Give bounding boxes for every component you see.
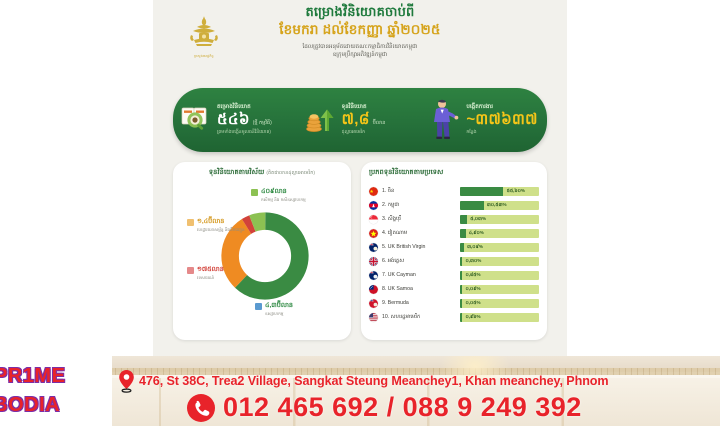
phone-row[interactable]: 012 465 692 / 088 9 249 392 bbox=[186, 392, 582, 423]
country-bar-value: ០,៨៥% bbox=[466, 272, 481, 279]
flag-united-kingdom-icon bbox=[369, 257, 378, 266]
donut-label-infrastructure: ១,៤ប៊ីលាន ហេដ្ឋារចនាសម្ព័ន្ធ និងដឹកជញ្ជូ… bbox=[187, 218, 245, 232]
coins-arrow-up-icon bbox=[302, 100, 338, 140]
businessman-icon bbox=[426, 100, 462, 140]
country-bar-track: ០,៣០% bbox=[460, 257, 539, 266]
sector-investment-card: ទុនវិនិយោគតាមវិស័យ (គិតជាលានដុល្លារអាមេរ… bbox=[173, 162, 351, 340]
country-bar-track: ៣០,៥៣% bbox=[460, 201, 539, 210]
country-row: 3. សិង្ហបុរី៥,០៣% bbox=[369, 212, 539, 226]
country-bar-track: ០,០៩% bbox=[460, 285, 539, 294]
country-bar-value: ០,៣០% bbox=[466, 258, 482, 265]
flag-vietnam-icon bbox=[369, 229, 378, 238]
donut-label-tourism: ១៧៥លាន ទេសចរណ៍ bbox=[187, 266, 224, 280]
source-country-card: ប្រភពទុនវិនិយោគតាមប្រទេស 1. ចិន៥៥,៦០%2. … bbox=[361, 162, 547, 340]
donut-label-agriculture: ៤០៩លាន កសិកម្ម និង កសិឧស្សាហកម្ម bbox=[251, 188, 306, 202]
telephone-icon bbox=[186, 393, 216, 423]
country-name: 5. UK British Virgin bbox=[382, 244, 460, 250]
country-bar-value: ០,០៥% bbox=[466, 300, 481, 307]
country-row: 1. ចិន៥៥,៦០% bbox=[369, 184, 539, 198]
stat-capital-unit: ប៊ីលាន bbox=[373, 121, 386, 126]
country-card-title: ប្រភពទុនវិនិយោគតាមប្រទេស bbox=[361, 162, 547, 178]
header-title-line2: ខែមករា ដល់ខែកញ្ញា ឆ្នាំ២០២៥ bbox=[153, 21, 567, 39]
country-bar-list: 1. ចិន៥៥,៦០%2. កម្ពុជា៣០,៥៣%3. សិង្ហបុរី… bbox=[369, 184, 539, 324]
sector-card-title: ទុនវិនិយោគតាមវិស័យ (គិតជាលានដុល្លារអាមេរ… bbox=[173, 162, 351, 178]
country-name: 4. វៀតណាម bbox=[382, 229, 460, 237]
country-bar-fill bbox=[460, 271, 462, 280]
infrastructure-value: ១,៤ប៊ីលាន bbox=[197, 218, 245, 226]
donut-label-industry: ៤,៣ប៊ីលាន ឧស្សាហកម្ម bbox=[255, 302, 293, 316]
stat-jobs-value: ~៣៧៦៣៧ bbox=[466, 112, 537, 128]
header-subtitle-line1: ដែលត្រូវបានអនុម័តដោយគណៈកម្មាធិការវិនិយោគ… bbox=[153, 43, 567, 51]
country-bar-value: ៣០,៥៣% bbox=[487, 202, 507, 209]
infrastructure-sub: ហេដ្ឋារចនាសម្ព័ន្ធ និងដឹកជញ្ជូន bbox=[197, 227, 245, 232]
stat-jobs: បង្កើតការងារ ~៣៧៦៣៧ កន្លែង bbox=[422, 100, 547, 140]
company-logo: PR1ME MBODIA bbox=[0, 356, 112, 426]
flag-british-virgin-islands-icon bbox=[369, 243, 378, 252]
contact-banner: PR1ME MBODIA 476, St 38C, Trea2 Village,… bbox=[0, 356, 720, 426]
country-bar-value: ៥៥,៦០% bbox=[507, 188, 525, 195]
tourism-swatch-icon bbox=[187, 267, 194, 274]
flag-samoa-icon bbox=[369, 285, 378, 294]
stat-projects-unit: (ថ្មី កម្មវិធី) bbox=[253, 121, 272, 126]
country-name: 8. UK Samoa bbox=[382, 286, 460, 292]
documents-magnifier-icon bbox=[177, 100, 213, 140]
industry-value: ៤,៣ប៊ីលាន bbox=[265, 302, 293, 310]
country-row: 10. សហរដ្ឋអាមេរិក០,៩៦% bbox=[369, 310, 539, 324]
tourism-sub: ទេសចរណ៍ bbox=[197, 275, 224, 280]
country-bar-track: ៥,០៣% bbox=[460, 215, 539, 224]
country-bar-value: ០,៩៦% bbox=[466, 314, 481, 321]
logo-line1: PR1ME bbox=[0, 365, 112, 388]
country-name: 7. UK Cayman bbox=[382, 272, 460, 278]
tourism-value: ១៧៥លាន bbox=[197, 266, 224, 274]
header-title-line1: តម្រោងវិនិយោគចាប់ពី bbox=[153, 4, 567, 20]
country-bar-fill bbox=[460, 299, 462, 308]
country-row: 4. វៀតណាម៤,៩០% bbox=[369, 226, 539, 240]
country-bar-fill bbox=[460, 257, 462, 266]
country-bar-value: ៤,៩០% bbox=[469, 230, 484, 237]
country-bar-fill bbox=[460, 215, 467, 224]
map-pin-icon bbox=[118, 369, 135, 393]
logo-line2: MBODIA bbox=[0, 394, 112, 417]
flag-cambodia-icon bbox=[369, 201, 378, 210]
country-bar-fill bbox=[460, 229, 466, 238]
flag-china-icon bbox=[369, 187, 378, 196]
header-subtitle-line2: ឧក្រុមប្រឹក្សាអភិវឌ្ឍន៍កម្ពុជា bbox=[153, 51, 567, 59]
country-bar-value: ៣,០៩% bbox=[467, 244, 483, 251]
country-bar-track: ៣,០៩% bbox=[460, 243, 539, 252]
country-name: 9. Bermuda bbox=[382, 300, 460, 306]
country-name: 10. សហរដ្ឋអាមេរិក bbox=[382, 313, 460, 321]
flag-cayman-islands-icon bbox=[369, 271, 378, 280]
country-row: 9. Bermuda០,០៥% bbox=[369, 296, 539, 310]
stat-capital-sub: ដុល្លារអាមេរិក bbox=[342, 130, 386, 135]
stat-projects-sub: ព្រមទាំងបង្កើនមូលធនិវិនិយោគ) bbox=[217, 130, 272, 135]
infrastructure-swatch-icon bbox=[187, 219, 194, 226]
country-bar-value: ៥,០៣% bbox=[470, 216, 486, 223]
poster-image: ក្រសួងសេដ្ឋកិច្ច តម្រោងវិនិយោគចាប់ពី ខែម… bbox=[153, 0, 567, 356]
industry-swatch-icon bbox=[255, 303, 262, 310]
country-name: 3. សិង្ហបុរី bbox=[382, 215, 460, 223]
flag-bermuda-icon bbox=[369, 299, 378, 308]
country-row: 2. កម្ពុជា៣០,៥៣% bbox=[369, 198, 539, 212]
sector-card-title-note: (គិតជាលានដុល្លារអាមេរិក) bbox=[266, 171, 315, 176]
country-row: 8. UK Samoa០,០៩% bbox=[369, 282, 539, 296]
country-bar-value: ០,០៩% bbox=[466, 286, 481, 293]
country-bar-fill bbox=[460, 201, 484, 210]
country-name: 2. កម្ពុជា bbox=[382, 201, 460, 209]
country-bar-fill bbox=[460, 243, 464, 252]
stat-jobs-sub: កន្លែង bbox=[466, 130, 537, 135]
stat-projects: ទុនវិនិយោគតាមវិស័យ (គិតជាលានដុល្លារអាមេរ… bbox=[173, 100, 298, 140]
country-row: 6. អង់គ្លេស០,៣០% bbox=[369, 254, 539, 268]
stat-projects-value: ៥៤៦ bbox=[217, 112, 250, 128]
country-bar-track: ០,០៥% bbox=[460, 299, 539, 308]
stat-capital-value: ៧,៨ bbox=[342, 112, 370, 128]
sector-card-title-text: ទុនវិនិយោគតាមវិស័យ bbox=[209, 169, 265, 176]
address-text: 476, St 38C, Trea2 Village, Sangkat Steu… bbox=[139, 374, 608, 388]
country-bar-track: ០,៩៦% bbox=[460, 313, 539, 322]
agriculture-swatch-icon bbox=[251, 189, 258, 196]
phone-number: 012 465 692 / 088 9 249 392 bbox=[223, 392, 582, 423]
industry-sub: ឧស្សាហកម្ម bbox=[265, 311, 293, 316]
country-bar-fill bbox=[460, 187, 503, 196]
flag-united-states-icon bbox=[369, 313, 378, 322]
summary-banner: ទុនវិនិយោគតាមវិស័យ (គិតជាលានដុល្លារអាមេរ… bbox=[173, 88, 547, 152]
country-name: 1. ចិន bbox=[382, 187, 460, 195]
agriculture-sub: កសិកម្ម និង កសិឧស្សាហកម្ម bbox=[261, 197, 306, 202]
country-name: 6. អង់គ្លេស bbox=[382, 257, 460, 265]
country-bar-fill bbox=[460, 285, 462, 294]
country-bar-track: ៤,៩០% bbox=[460, 229, 539, 238]
country-bar-track: ០,៨៥% bbox=[460, 271, 539, 280]
flag-singapore-icon bbox=[369, 215, 378, 224]
country-row: 5. UK British Virgin៣,០៩% bbox=[369, 240, 539, 254]
stat-capital: ទុនវិនិយោគ ៧,៨ ប៊ីលាន ដុល្លារអាមេរិក bbox=[298, 100, 423, 140]
agriculture-value: ៤០៩លាន bbox=[261, 188, 306, 196]
country-bar-track: ៥៥,៦០% bbox=[460, 187, 539, 196]
address-row: 476, St 38C, Trea2 Village, Sangkat Steu… bbox=[118, 369, 720, 393]
poster-header: តម្រោងវិនិយោគចាប់ពី ខែមករា ដល់ខែកញ្ញា ឆ្… bbox=[153, 4, 567, 60]
country-row: 7. UK Cayman០,៨៥% bbox=[369, 268, 539, 282]
country-bar-fill bbox=[460, 313, 462, 322]
